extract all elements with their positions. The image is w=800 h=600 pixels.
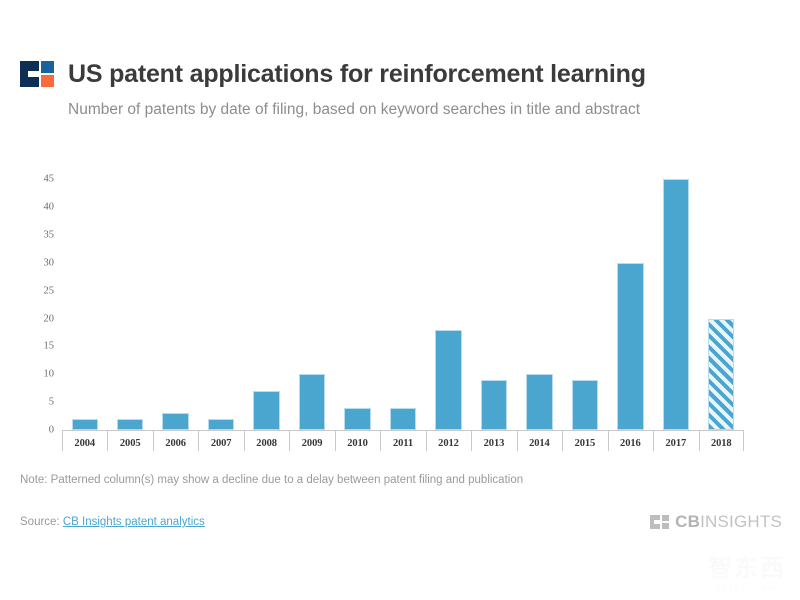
bar[interactable] <box>162 413 188 430</box>
x-axis-tick: 2007 <box>198 431 243 455</box>
bar-slot <box>699 168 744 430</box>
footer-brand-text: CBINSIGHTS <box>675 512 782 532</box>
x-axis-tick: 2017 <box>653 431 698 455</box>
x-axis-tick: 2016 <box>608 431 653 455</box>
watermark-domain-text: zhidx.com <box>708 583 786 592</box>
chart-header: US patent applications for reinforcement… <box>20 56 780 119</box>
bar-slot <box>244 168 289 430</box>
bar[interactable] <box>72 419 98 430</box>
bar[interactable] <box>663 179 689 430</box>
x-axis-tick-label: 2004 <box>74 438 95 449</box>
x-axis-tick: 2011 <box>380 431 425 455</box>
bar[interactable] <box>617 263 643 430</box>
source-link[interactable]: CB Insights patent analytics <box>63 516 205 528</box>
bar[interactable] <box>208 419 234 430</box>
bar[interactable] <box>435 330 461 430</box>
bar-series <box>62 168 744 430</box>
x-axis-tick: 2009 <box>289 431 334 455</box>
y-axis-tick-label: 25 <box>44 285 55 296</box>
x-axis: 2004200520062007200820092010201120122013… <box>62 430 744 455</box>
bar-slot <box>562 168 607 430</box>
x-axis-tick: 2004 <box>62 431 107 455</box>
bar-slot <box>653 168 698 430</box>
x-axis-tick-label: 2009 <box>302 438 323 449</box>
y-axis-tick-label: 5 <box>49 397 54 408</box>
bar[interactable] <box>299 374 325 430</box>
bar-slot <box>517 168 562 430</box>
y-axis: 051015202530354045 <box>20 168 54 430</box>
footer-brand: CBINSIGHTS <box>650 512 782 532</box>
x-axis-tick-label: 2014 <box>529 438 550 449</box>
x-axis-tick-label: 2017 <box>666 438 687 449</box>
footer-brand-rest: INSIGHTS <box>700 512 782 531</box>
x-axis-tick: 2012 <box>426 431 471 455</box>
bar-slot <box>335 168 380 430</box>
x-axis-tick-label: 2010 <box>347 438 368 449</box>
cb-insights-logo-icon <box>20 61 54 87</box>
cb-insights-footer-logo-icon <box>650 515 669 529</box>
bar-patterned[interactable] <box>708 319 734 430</box>
x-axis-tick-label: 2013 <box>484 438 505 449</box>
bar-slot <box>62 168 107 430</box>
x-axis-tick-label: 2005 <box>120 438 141 449</box>
page-title: US patent applications for reinforcement… <box>68 60 646 89</box>
x-axis-tick-label: 2012 <box>438 438 459 449</box>
x-axis-tick-label: 2018 <box>711 438 732 449</box>
footer-logo-c-notch <box>654 520 660 524</box>
chart-page: US patent applications for reinforcement… <box>0 0 800 600</box>
x-axis-tick-label: 2007 <box>211 438 232 449</box>
y-axis-tick-label: 20 <box>44 313 55 324</box>
title-row: US patent applications for reinforcement… <box>20 56 780 92</box>
footer-logo-top-square <box>662 515 669 521</box>
logo-blue-square <box>41 61 54 73</box>
bar[interactable] <box>390 408 416 430</box>
page-subtitle: Number of patents by date of filing, bas… <box>68 101 780 119</box>
logo-c-notch <box>28 71 39 77</box>
y-axis-tick-label: 35 <box>44 229 55 240</box>
x-axis-tick-label: 2016 <box>620 438 641 449</box>
bar-slot <box>198 168 243 430</box>
bar[interactable] <box>481 380 507 430</box>
watermark: 智东西 zhidx.com <box>708 557 786 592</box>
bar[interactable] <box>572 380 598 430</box>
bar-slot <box>380 168 425 430</box>
x-axis-tick-label: 2015 <box>575 438 596 449</box>
bar-slot <box>426 168 471 430</box>
footer-logo-bottom-square <box>662 523 669 529</box>
source-prefix: Source: <box>20 516 60 528</box>
footer-brand-bold: CB <box>675 512 700 531</box>
x-axis-tick-label: 2011 <box>393 438 413 449</box>
bar-slot <box>471 168 516 430</box>
x-axis-end-tick <box>743 431 744 451</box>
bar-slot <box>608 168 653 430</box>
watermark-logo-text: 智东西 <box>708 557 786 581</box>
x-axis-tick: 2018 <box>699 431 744 455</box>
bar[interactable] <box>117 419 143 430</box>
bar-slot <box>289 168 334 430</box>
y-axis-tick-label: 45 <box>44 174 55 185</box>
x-axis-tick: 2005 <box>107 431 152 455</box>
bar-slot <box>107 168 152 430</box>
x-axis-tick: 2008 <box>244 431 289 455</box>
x-axis-tick: 2006 <box>153 431 198 455</box>
x-axis-tick: 2010 <box>335 431 380 455</box>
x-axis-tick-label: 2008 <box>256 438 277 449</box>
chart-source: Source: CB Insights patent analytics <box>20 516 205 528</box>
x-axis-tick: 2015 <box>562 431 607 455</box>
x-axis-tick-label: 2006 <box>165 438 186 449</box>
y-axis-tick-label: 15 <box>44 341 55 352</box>
y-axis-tick-label: 0 <box>49 425 54 436</box>
bar[interactable] <box>253 391 279 430</box>
x-axis-tick: 2013 <box>471 431 516 455</box>
logo-orange-square <box>41 75 54 87</box>
y-axis-tick-label: 40 <box>44 202 55 213</box>
y-axis-tick-label: 10 <box>44 369 55 380</box>
bars-container <box>62 168 744 430</box>
chart-note: Note: Patterned column(s) may show a dec… <box>20 474 523 486</box>
bar[interactable] <box>344 408 370 430</box>
bar-slot <box>153 168 198 430</box>
x-axis-tick: 2014 <box>517 431 562 455</box>
chart-plot-area: 051015202530354045 200420052006200720082… <box>20 168 760 450</box>
x-axis-labels: 2004200520062007200820092010201120122013… <box>62 431 744 455</box>
y-axis-tick-label: 30 <box>44 257 55 268</box>
bar[interactable] <box>526 374 552 430</box>
